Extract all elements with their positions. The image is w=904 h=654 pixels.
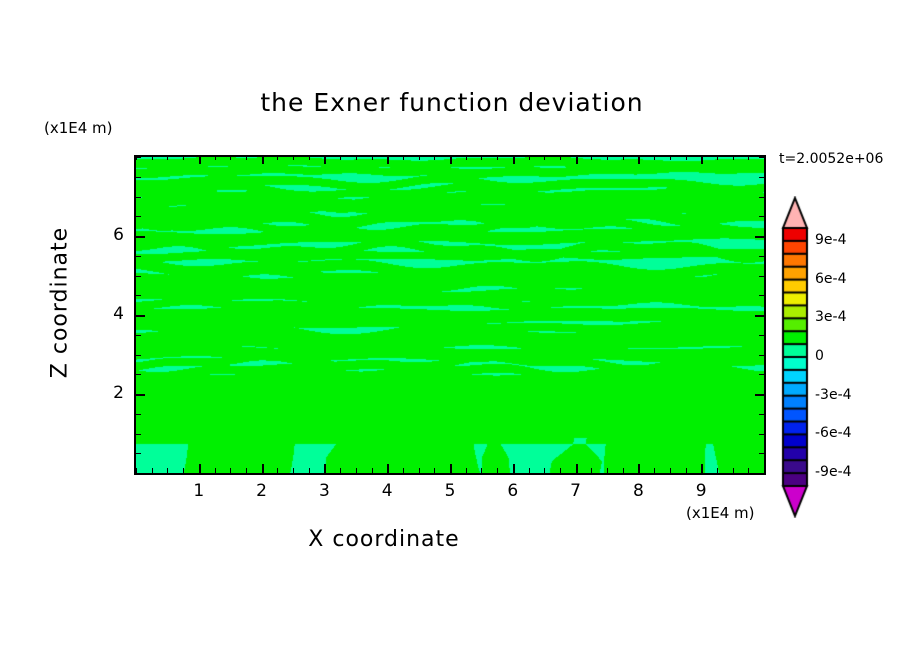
y-tick-minor [136,335,141,336]
colorbar-canvas [778,196,812,518]
y-tick-minor [136,434,141,435]
x-tick-major [387,464,389,473]
x-tick-minor [529,468,530,473]
y-tick-major-right [755,315,764,317]
x-tick-label: 4 [367,481,407,501]
contour-field-canvas [136,157,764,473]
x-tick-minor [152,468,153,473]
y-tick-minor [136,374,141,375]
x-tick-minor [733,468,734,473]
timestamp-label: t=2.0052e+06 [779,151,883,167]
x-tick-major-top [701,155,703,164]
y-tick-minor [136,177,141,178]
x-tick-minor-top [733,155,734,160]
y-tick-minor-right [759,335,764,336]
x-tick-minor-top [277,155,278,160]
y-tick-label: 6 [84,225,124,245]
x-tick-minor [356,468,357,473]
x-tick-minor [591,468,592,473]
y-tick-minor [136,197,141,198]
y-tick-minor [136,414,141,415]
x-tick-label: 1 [179,481,219,501]
y-tick-minor-right [759,453,764,454]
x-tick-minor [277,468,278,473]
x-tick-minor [764,468,765,473]
y-tick-minor-right [759,434,764,435]
x-tick-minor-top [466,155,467,160]
colorbar-tick-label: 3e-4 [815,309,846,325]
x-tick-minor-top [293,155,294,160]
x-tick-minor [340,468,341,473]
x-tick-minor-top [591,155,592,160]
y-tick-minor-right [759,473,764,474]
colorbar-tick-label: -3e-4 [815,387,852,403]
x-tick-minor [215,468,216,473]
x-tick-minor-top [481,155,482,160]
x-tick-minor [623,468,624,473]
x-tick-major [262,464,264,473]
x-tick-minor [560,468,561,473]
y-tick-major [136,315,145,317]
x-tick-major-top [199,155,201,164]
y-tick-minor-right [759,414,764,415]
x-tick-minor-top [764,155,765,160]
x-tick-minor-top [167,155,168,160]
y-tick-minor [136,473,141,474]
y-tick-minor [136,216,141,217]
y-tick-major [136,394,145,396]
y-tick-minor [136,276,141,277]
x-tick-major [324,464,326,473]
y-tick-minor [136,157,141,158]
x-tick-minor-top [607,155,608,160]
x-tick-minor-top [623,155,624,160]
x-tick-minor [654,468,655,473]
y-tick-minor [136,355,141,356]
y-tick-major-right [755,394,764,396]
x-tick-minor [230,468,231,473]
colorbar-tick-label: 0 [815,348,824,364]
x-tick-minor [466,468,467,473]
x-tick-major [701,464,703,473]
x-tick-major [638,464,640,473]
y-tick-minor-right [759,197,764,198]
x-tick-minor [419,468,420,473]
x-tick-minor [607,468,608,473]
x-tick-minor [403,468,404,473]
x-tick-minor-top [246,155,247,160]
x-tick-major [576,464,578,473]
x-tick-minor-top [183,155,184,160]
x-tick-minor [309,468,310,473]
x-tick-major [450,464,452,473]
x-tick-minor-top [356,155,357,160]
x-tick-minor [246,468,247,473]
x-tick-minor-top [717,155,718,160]
y-tick-minor-right [759,256,764,257]
y-tick-label: 2 [84,383,124,403]
x-tick-minor-top [434,155,435,160]
x-tick-label: 3 [304,481,344,501]
x-tick-minor-top [152,155,153,160]
y-tick-minor [136,453,141,454]
x-tick-minor-top [215,155,216,160]
y-tick-minor-right [759,295,764,296]
x-tick-minor-top [560,155,561,160]
x-tick-minor-top [748,155,749,160]
colorbar [778,196,812,518]
y-axis-title: Z coordinate [48,213,73,393]
x-tick-label: 9 [681,481,721,501]
colorbar-tick-label: -9e-4 [815,464,852,480]
x-tick-minor [481,468,482,473]
x-tick-minor [293,468,294,473]
x-tick-minor [183,468,184,473]
x-tick-minor-top [497,155,498,160]
x-tick-minor-top [529,155,530,160]
y-tick-label: 4 [84,304,124,324]
x-tick-minor [497,468,498,473]
x-tick-minor [686,468,687,473]
x-tick-minor [434,468,435,473]
x-tick-minor-top [372,155,373,160]
y-tick-minor [136,256,141,257]
x-tick-major-top [450,155,452,164]
x-tick-minor-top [654,155,655,160]
y-tick-minor-right [759,177,764,178]
x-tick-minor [544,468,545,473]
y-tick-minor-right [759,157,764,158]
colorbar-tick-label: 9e-4 [815,232,846,248]
x-tick-minor [167,468,168,473]
x-tick-major-top [576,155,578,164]
x-tick-major-top [638,155,640,164]
x-tick-major-top [324,155,326,164]
x-tick-minor-top [403,155,404,160]
x-tick-major-top [513,155,515,164]
chart-title: the Exner function deviation [0,88,904,117]
y-tick-minor-right [759,374,764,375]
x-tick-minor-top [670,155,671,160]
x-tick-minor [748,468,749,473]
x-tick-major [513,464,515,473]
colorbar-tick-label: 6e-4 [815,271,846,287]
x-tick-minor-top [309,155,310,160]
x-tick-minor [717,468,718,473]
x-tick-minor-top [544,155,545,160]
x-tick-label: 7 [556,481,596,501]
x-axis-unit-label: (x1E4 m) [686,504,755,522]
contour-plot-area [134,155,766,475]
y-tick-minor-right [759,355,764,356]
x-tick-major [199,464,201,473]
y-tick-major [136,236,145,238]
x-tick-label: 8 [618,481,658,501]
x-tick-minor [670,468,671,473]
x-tick-minor-top [230,155,231,160]
y-tick-major-right [755,236,764,238]
x-axis-title: X coordinate [0,527,768,552]
x-tick-minor [372,468,373,473]
x-tick-label: 5 [430,481,470,501]
y-tick-minor-right [759,276,764,277]
y-axis-unit-label: (x1E4 m) [44,119,113,137]
figure-root: the Exner function deviation (x1E4 m) (x… [0,0,904,654]
x-tick-minor-top [419,155,420,160]
colorbar-tick-label: -6e-4 [815,425,852,441]
x-tick-minor-top [340,155,341,160]
x-tick-major-top [262,155,264,164]
x-tick-label: 6 [493,481,533,501]
x-tick-major-top [387,155,389,164]
x-tick-label: 2 [242,481,282,501]
y-tick-minor-right [759,216,764,217]
x-tick-minor-top [686,155,687,160]
y-tick-minor [136,295,141,296]
